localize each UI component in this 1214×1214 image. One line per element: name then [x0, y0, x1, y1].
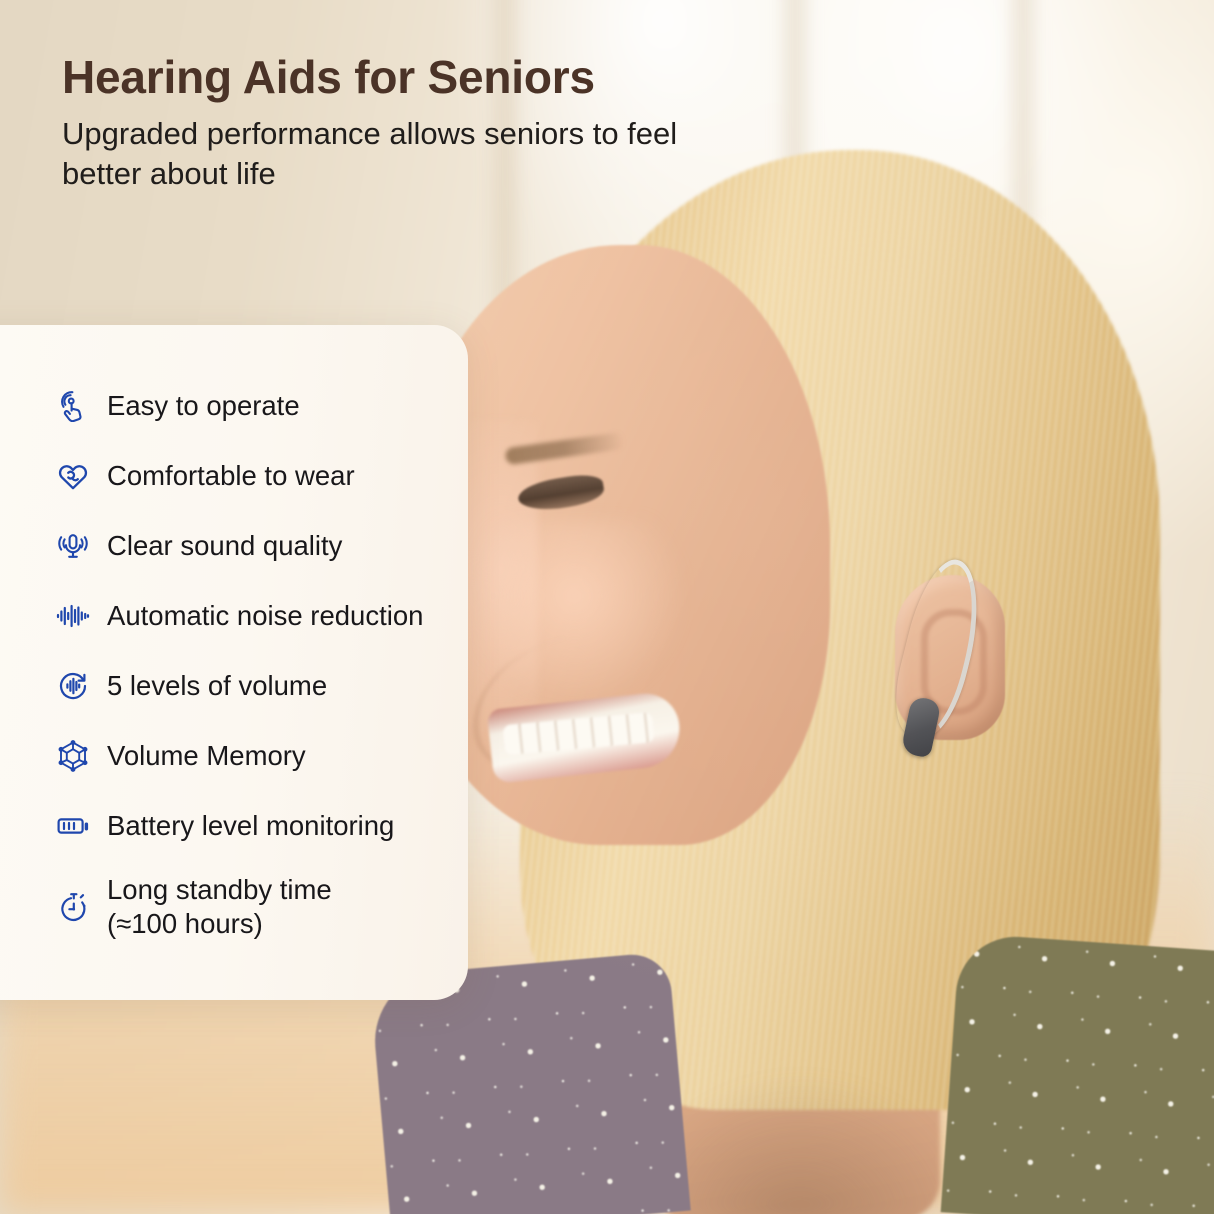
- feature-item-volume-memory: Volume Memory: [56, 721, 468, 791]
- feature-label: Battery level monitoring: [107, 809, 394, 843]
- feature-label: Clear sound quality: [107, 529, 342, 563]
- feature-label: Comfortable to wear: [107, 459, 355, 493]
- microphone-sound-icon: [56, 529, 90, 563]
- hexagon-network-icon: [56, 739, 90, 773]
- headline-block: Hearing Aids for Seniors Upgraded perfor…: [62, 52, 702, 195]
- feature-item-clear-sound-quality: Clear sound quality: [56, 511, 468, 581]
- tap-gesture-icon: [56, 389, 90, 423]
- feature-item-5-levels-of-volume: 5 levels of volume: [56, 651, 468, 721]
- battery-level-icon: [56, 809, 90, 843]
- feature-item-long-standby-time: Long standby time (≈100 hours): [56, 861, 468, 953]
- feature-item-easy-to-operate: Easy to operate: [56, 371, 468, 441]
- audio-waveform-icon: [56, 599, 90, 633]
- volume-level-circle-icon: [56, 669, 90, 703]
- feature-list: Easy to operate Comfortable to wear: [0, 325, 468, 953]
- stopwatch-icon: [56, 890, 90, 924]
- feature-item-comfortable-to-wear: Comfortable to wear: [56, 441, 468, 511]
- feature-item-battery-level-monitoring: Battery level monitoring: [56, 791, 468, 861]
- feature-label: Volume Memory: [107, 739, 306, 773]
- page-title: Hearing Aids for Seniors: [62, 52, 702, 104]
- feature-label: Easy to operate: [107, 389, 300, 423]
- feature-card: Easy to operate Comfortable to wear: [0, 325, 468, 1000]
- feature-label: 5 levels of volume: [107, 669, 327, 703]
- feature-label: Long standby time (≈100 hours): [107, 873, 332, 940]
- feature-item-automatic-noise-reduction: Automatic noise reduction: [56, 581, 468, 651]
- product-infographic: Hearing Aids for Seniors Upgraded perfor…: [0, 0, 1214, 1214]
- page-subtitle: Upgraded performance allows seniors to f…: [62, 114, 702, 196]
- feature-label: Automatic noise reduction: [107, 599, 423, 633]
- floral-blouse: [350, 944, 1214, 1214]
- heart-handshake-icon: [56, 459, 90, 493]
- blouse-right-panel: [941, 933, 1214, 1214]
